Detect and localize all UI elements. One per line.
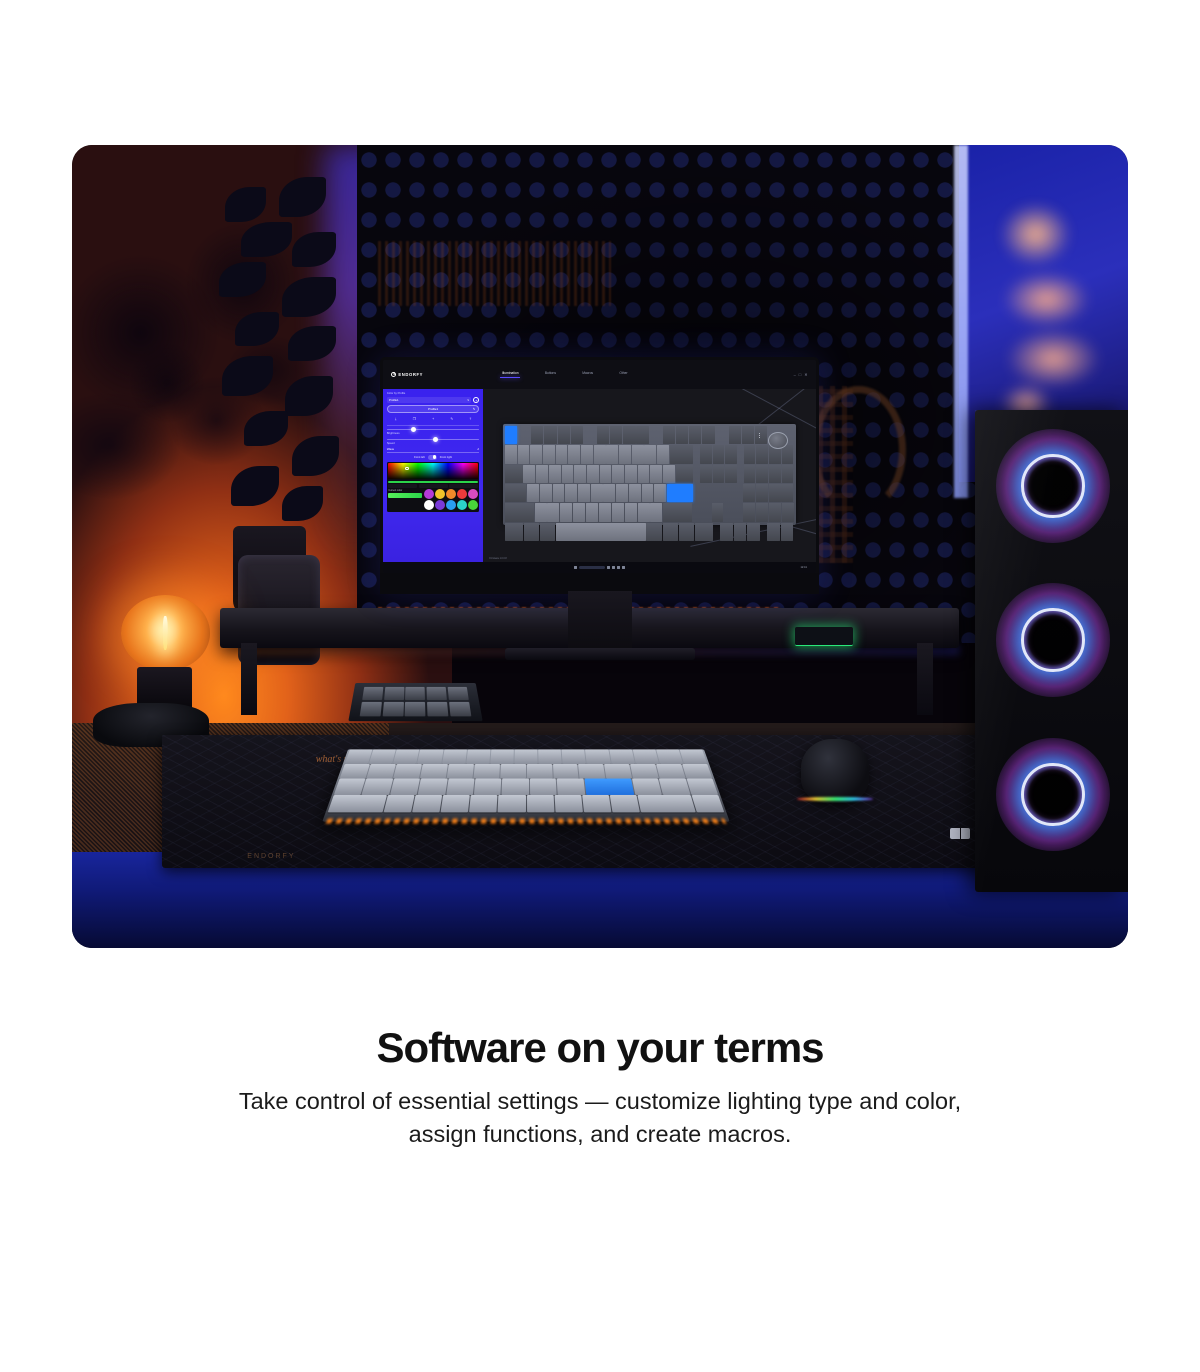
tab-buttons[interactable]: Buttons — [545, 371, 556, 377]
case-glass-panel — [975, 410, 1128, 892]
r-field[interactable] — [388, 484, 417, 488]
profile-select[interactable]: Profile1 ∨ — [387, 397, 471, 403]
key[interactable] — [638, 465, 650, 483]
minimize-icon[interactable]: – — [794, 372, 796, 377]
key[interactable] — [591, 484, 603, 502]
nav-tabs: Illumination Buttons Macros Other — [485, 371, 794, 377]
page-title: Software on your terms — [0, 1024, 1200, 1072]
divider — [387, 425, 479, 426]
key[interactable] — [712, 484, 724, 502]
copy-icon[interactable]: ❐ — [413, 417, 416, 421]
key[interactable] — [625, 465, 637, 483]
edison-bulb — [121, 595, 211, 671]
keyboard-row-fn — [505, 426, 794, 444]
tab-other[interactable]: Other — [619, 371, 627, 377]
lwin-key[interactable] — [524, 523, 539, 541]
edit-icon[interactable]: ✎ — [450, 417, 453, 421]
monitor: ENDORFY Illumination Buttons Macros Othe… — [380, 357, 818, 594]
close-icon[interactable]: ✕ — [804, 372, 807, 377]
brand-name: ENDORFY — [398, 372, 423, 377]
taskbar-app-icon[interactable] — [607, 566, 610, 569]
key[interactable] — [629, 484, 641, 502]
macro-pad-keys — [360, 687, 471, 716]
keyboard-row-number — [505, 445, 794, 463]
key[interactable] — [558, 426, 570, 444]
key[interactable] — [544, 426, 556, 444]
speed-track[interactable] — [387, 439, 479, 440]
app-titlebar: ENDORFY Illumination Buttons Macros Othe… — [383, 360, 815, 389]
macro-pad — [348, 683, 482, 721]
speed-label: Speed — [387, 442, 479, 445]
add-profile-button[interactable]: + — [473, 397, 479, 403]
key[interactable] — [536, 465, 548, 483]
subtitle-line-2: assign functions, and create macros. — [0, 1118, 1200, 1151]
key[interactable] — [578, 484, 590, 502]
app-brand: ENDORFY — [387, 372, 485, 377]
key[interactable] — [535, 503, 547, 521]
plant — [209, 177, 367, 675]
keyboard-preview[interactable] — [503, 424, 796, 526]
swatch[interactable] — [457, 500, 467, 510]
brightness-slider[interactable] — [387, 428, 479, 430]
key[interactable] — [702, 426, 714, 444]
wall-shelf-rack — [378, 241, 610, 305]
swatch[interactable] — [435, 500, 445, 510]
current-color-bar — [388, 493, 422, 498]
key[interactable] — [756, 484, 768, 502]
brightness-label: Brightness — [387, 432, 479, 435]
key[interactable] — [638, 503, 650, 521]
riser-leg-left — [241, 643, 257, 715]
sidebar-section-label: Color by Profile — [387, 392, 479, 395]
swatch[interactable] — [468, 489, 478, 499]
current-color-label: Current color — [388, 489, 422, 492]
brightness-track[interactable] — [387, 429, 479, 430]
keyboard-row-shift — [505, 503, 794, 521]
mouse-rgb-led — [797, 797, 874, 801]
key[interactable] — [543, 445, 555, 463]
key[interactable] — [654, 484, 666, 502]
tab-illumination[interactable]: Illumination — [502, 371, 519, 377]
key[interactable] — [769, 484, 781, 502]
key[interactable] — [769, 465, 781, 483]
key[interactable] — [755, 426, 767, 444]
power-icon — [391, 372, 396, 377]
key[interactable] — [587, 465, 599, 483]
gaming-mouse — [801, 739, 870, 803]
monitor-screen: ENDORFY Illumination Buttons Macros Othe… — [383, 360, 815, 573]
app-body: Color by Profile Profile1 ∨ + Profile1 ✎ — [383, 389, 815, 564]
mousepad-wordmark: ENDORFY — [247, 853, 295, 860]
lctrl-key[interactable] — [505, 523, 523, 541]
front-light-toggle[interactable] — [428, 455, 437, 460]
kb-row — [343, 750, 709, 764]
swatch[interactable] — [435, 489, 445, 499]
key[interactable] — [713, 445, 725, 463]
key[interactable] — [769, 503, 781, 521]
rctrl-key[interactable] — [695, 523, 713, 541]
key[interactable] — [547, 503, 559, 521]
down-arrow-key[interactable] — [734, 523, 747, 541]
key[interactable] — [581, 445, 593, 463]
b-field[interactable] — [449, 484, 478, 488]
headset-on-wall — [811, 386, 906, 514]
enter-key[interactable] — [667, 484, 693, 502]
speed-slider[interactable] — [387, 437, 479, 439]
key[interactable] — [644, 445, 656, 463]
key[interactable] — [612, 503, 624, 521]
key[interactable] — [725, 484, 737, 502]
key[interactable] — [743, 503, 755, 521]
endorfy-software-window: ENDORFY Illumination Buttons Macros Othe… — [383, 360, 815, 573]
key[interactable] — [568, 445, 580, 463]
windows-taskbar: 12:41 — [383, 562, 815, 573]
illumination-sidebar: Color by Profile Profile1 ∨ + Profile1 ✎ — [383, 389, 482, 564]
key[interactable] — [781, 484, 793, 502]
swatch[interactable] — [446, 489, 456, 499]
import-icon[interactable]: ⤓ — [395, 417, 397, 421]
taskbar-app-icon[interactable] — [612, 566, 615, 569]
key[interactable] — [663, 426, 675, 444]
key[interactable] — [549, 465, 561, 483]
firmware-status: Firmware 1.0.0.8 — [489, 558, 506, 560]
profile-action-icons: ⤓ ❐ + ✎ ⤒ — [387, 416, 479, 423]
profile-chip[interactable]: Profile1 ✎ — [387, 405, 479, 413]
picker-cursor[interactable] — [405, 467, 408, 470]
indicator-leds — [759, 433, 760, 438]
swatch[interactable] — [446, 500, 456, 510]
taskbar-app-icon[interactable] — [617, 566, 620, 569]
profile-chip-label: Profile1 — [428, 407, 438, 411]
key[interactable] — [700, 465, 712, 483]
key[interactable] — [599, 503, 611, 521]
page-subtitle: Take control of essential settings — cus… — [0, 1085, 1200, 1152]
key[interactable] — [756, 445, 768, 463]
esc-key[interactable] — [505, 426, 517, 444]
key[interactable] — [560, 503, 572, 521]
key[interactable] — [782, 503, 794, 521]
subtitle-line-1: Take control of essential settings — cus… — [0, 1085, 1200, 1118]
key[interactable] — [725, 445, 737, 463]
key[interactable] — [642, 484, 654, 502]
add-icon[interactable]: + — [432, 417, 434, 421]
rgb-pc-case — [975, 410, 1128, 892]
mechanical-keyboard — [322, 750, 730, 823]
key[interactable] — [606, 445, 618, 463]
swatch[interactable] — [424, 489, 434, 499]
swatch[interactable] — [468, 500, 478, 510]
key[interactable] — [540, 484, 552, 502]
current-color-block: Current color — [388, 489, 422, 498]
effect-value: Wave — [387, 447, 394, 451]
key[interactable] — [713, 465, 725, 483]
key[interactable] — [612, 465, 624, 483]
bulb-filament — [163, 616, 167, 650]
backspace-key[interactable] — [670, 445, 694, 463]
key[interactable] — [574, 465, 586, 483]
key[interactable] — [650, 503, 662, 521]
key[interactable] — [725, 465, 737, 483]
key[interactable] — [553, 484, 565, 502]
kb-row — [338, 764, 715, 779]
key[interactable] — [729, 426, 741, 444]
key[interactable] — [636, 426, 648, 444]
kb-row — [326, 795, 727, 812]
menu-key[interactable] — [679, 523, 694, 541]
swatch[interactable] — [424, 500, 434, 510]
key[interactable] — [632, 445, 644, 463]
keyboard-row-qwerty — [505, 465, 794, 483]
key[interactable] — [505, 445, 517, 463]
g-field[interactable] — [419, 484, 448, 488]
key[interactable] — [523, 465, 535, 483]
window-controls: – □ ✕ — [794, 372, 812, 377]
key[interactable] — [518, 445, 530, 463]
key[interactable] — [650, 465, 662, 483]
tab-macros[interactable]: Macros — [582, 371, 593, 377]
toggle-right-label: Front right — [440, 456, 452, 459]
key[interactable] — [767, 523, 780, 541]
up-arrow-key[interactable] — [712, 503, 724, 521]
brightness-knob[interactable] — [411, 427, 416, 432]
key[interactable] — [565, 484, 577, 502]
system-tray[interactable]: 12:41 — [800, 566, 807, 569]
key[interactable] — [623, 426, 635, 444]
front-light-toggle-row: Front left Front right — [387, 455, 479, 460]
key[interactable] — [571, 426, 583, 444]
profile-select-row: Profile1 ∨ + — [387, 397, 479, 403]
windows-icon[interactable] — [574, 566, 577, 569]
keyboard-row-space — [505, 523, 794, 541]
swatch[interactable] — [457, 489, 467, 499]
left-arrow-key[interactable] — [720, 523, 733, 541]
color-fields — [388, 484, 477, 488]
key[interactable] — [603, 484, 615, 502]
key[interactable] — [756, 503, 768, 521]
key[interactable] — [600, 465, 612, 483]
key[interactable] — [616, 484, 628, 502]
hero-photo: ENDORFY Illumination Buttons Macros Othe… — [72, 145, 1128, 948]
toggle-left-label: Front left — [414, 456, 425, 459]
taskbar-app-icon[interactable] — [622, 566, 625, 569]
key[interactable] — [744, 465, 756, 483]
ralt-key[interactable] — [646, 523, 661, 541]
lalt-key[interactable] — [540, 523, 555, 541]
key[interactable] — [527, 484, 539, 502]
search-input[interactable] — [579, 566, 605, 569]
backslash-key[interactable] — [676, 465, 694, 483]
key[interactable] — [530, 445, 542, 463]
key[interactable] — [689, 426, 701, 444]
chevron-down-icon: ∨ — [467, 398, 469, 402]
monitor-stand-base — [505, 648, 695, 660]
monitor-stand-neck — [568, 591, 631, 651]
key[interactable] — [663, 465, 675, 483]
swatch-area: Current color — [388, 489, 477, 510]
key[interactable] — [756, 465, 768, 483]
riser-leg-right — [917, 643, 933, 715]
space-key[interactable] — [556, 523, 645, 541]
key[interactable] — [743, 484, 755, 502]
speed-knob[interactable] — [433, 437, 438, 442]
export-icon[interactable]: ⤒ — [470, 417, 472, 421]
kb-row — [332, 779, 721, 795]
preset-swatches — [424, 489, 478, 510]
capslock-key[interactable] — [505, 484, 526, 502]
keyboard-row-home — [505, 484, 794, 502]
blue-wall-edge-light — [954, 145, 968, 498]
key[interactable] — [742, 426, 754, 444]
keyboard-underglow — [326, 819, 727, 824]
key[interactable] — [700, 484, 712, 502]
green-lit-device — [795, 627, 853, 646]
key[interactable] — [562, 465, 574, 483]
key[interactable] — [657, 445, 669, 463]
key[interactable] — [782, 465, 794, 483]
key[interactable] — [556, 445, 568, 463]
key[interactable] — [619, 445, 631, 463]
key[interactable] — [781, 523, 794, 541]
pencil-icon[interactable]: ✎ — [473, 407, 476, 411]
tab-key[interactable] — [505, 465, 523, 483]
key[interactable] — [597, 426, 609, 444]
key[interactable] — [573, 503, 585, 521]
key[interactable] — [586, 503, 598, 521]
chevron-up-icon: ∧ — [477, 447, 479, 451]
effect-dropdown[interactable]: Wave ∧ — [387, 447, 479, 453]
color-picker: Current color — [387, 462, 479, 512]
mousepad-logo — [950, 828, 970, 839]
profile-select-value: Profile1 — [389, 398, 399, 402]
key[interactable] — [531, 426, 543, 444]
hue-bar[interactable] — [388, 481, 477, 483]
maximize-icon[interactable]: □ — [799, 372, 801, 377]
saturation-value-field[interactable] — [388, 463, 477, 479]
key[interactable] — [700, 445, 712, 463]
key[interactable] — [744, 445, 756, 463]
device-canvas: Firmware 1.0.0.8 — [483, 389, 816, 564]
right-arrow-key[interactable] — [747, 523, 760, 541]
fn-key[interactable] — [663, 523, 678, 541]
key[interactable] — [782, 445, 794, 463]
key[interactable] — [625, 503, 637, 521]
tray-time: 12:41 — [800, 566, 807, 569]
key[interactable] — [594, 445, 606, 463]
key[interactable] — [676, 426, 688, 444]
key[interactable] — [610, 426, 622, 444]
rshift-key[interactable] — [663, 503, 692, 521]
lshift-key[interactable] — [505, 503, 534, 521]
